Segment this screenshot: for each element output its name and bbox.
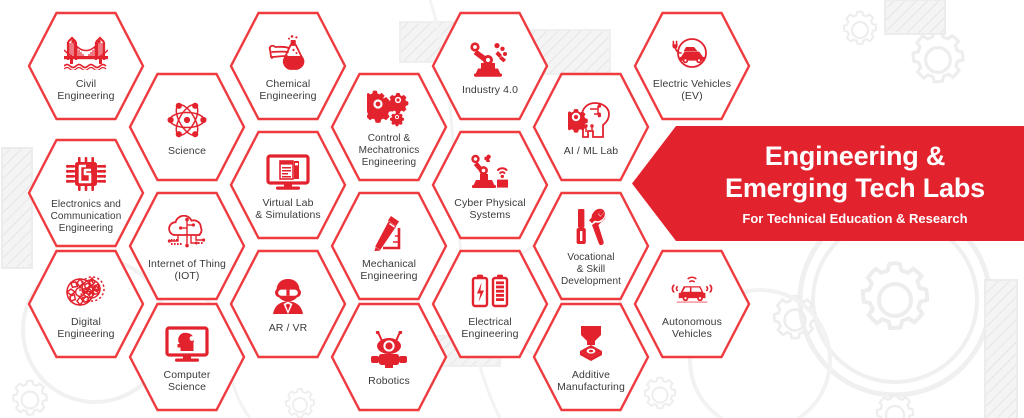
hex-label: Electronics and Communication Engineerin… <box>51 199 122 234</box>
hex-label: Cyber Physical Systems <box>454 197 525 222</box>
gears-icon <box>366 87 412 129</box>
hex-label: Vocational & Skill Development <box>561 252 621 287</box>
banner-title-line2: Emerging Tech Labs <box>725 172 985 204</box>
hex-label: Control & Mechatronics Engineering <box>359 133 420 168</box>
monitor-head-icon <box>164 323 210 365</box>
tools-icon <box>568 206 614 248</box>
hex-label: AR / VR <box>269 322 308 334</box>
hex-label: Electrical Engineering <box>461 316 518 341</box>
3d-printer-icon <box>568 323 614 365</box>
hex-electric-vehicles[interactable]: Electric Vehicles (EV) <box>633 11 751 121</box>
banner-subtitle: For Technical Education & Research <box>742 211 967 227</box>
hex-label: Computer Science <box>164 369 211 394</box>
cloud-circuit-icon <box>164 212 210 254</box>
title-banner: Engineering & Emerging Tech Labs For Tec… <box>632 126 1024 241</box>
robot-arm-icon <box>467 38 513 80</box>
caliper-tools-icon <box>366 212 412 254</box>
ev-car-icon <box>669 32 715 74</box>
hex-label: Industry 4.0 <box>462 84 518 96</box>
hex-label: Robotics <box>368 375 410 387</box>
hex-label: Chemical Engineering <box>259 78 316 103</box>
bridge-icon <box>63 32 109 74</box>
hex-label: Additive Manufacturing <box>557 369 625 394</box>
flask-hand-icon <box>265 32 311 74</box>
ai-head-icon <box>568 99 614 141</box>
hex-label: Civil Engineering <box>57 78 114 103</box>
hex-label: Virtual Lab & Simulations <box>255 197 321 222</box>
microchip-icon <box>63 153 109 195</box>
gear-flower-icon <box>63 270 109 312</box>
banner-title-line1: Engineering & <box>765 140 945 172</box>
battery-icon <box>467 270 513 312</box>
hex-label: Internet of Thing (IOT) <box>148 258 226 283</box>
infographic-canvas: Civil Engineering <box>0 0 1024 418</box>
robot-arm-wifi-icon <box>467 151 513 193</box>
atom-icon <box>164 99 210 141</box>
hex-label: Autonomous Vehicles <box>662 316 722 341</box>
hex-label: Digital Engineering <box>57 316 114 341</box>
autonomous-car-icon <box>669 270 715 312</box>
vr-person-icon <box>265 276 311 318</box>
hex-label: Electric Vehicles (EV) <box>653 78 731 103</box>
hex-label: AI / ML Lab <box>564 145 618 157</box>
monitor-doc-icon <box>265 151 311 193</box>
hex-label: Mechanical Engineering <box>360 258 417 283</box>
hex-label: Science <box>168 145 206 157</box>
robot-icon <box>366 329 412 371</box>
hex-autonomous-vehicles[interactable]: Autonomous Vehicles <box>633 249 751 359</box>
